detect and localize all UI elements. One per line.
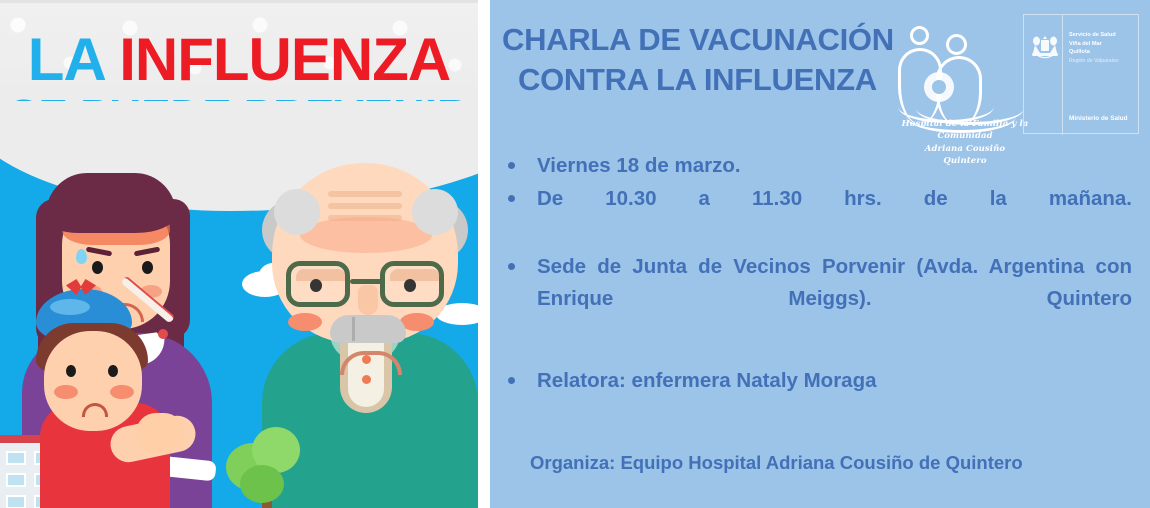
woman-eye bbox=[92, 261, 103, 274]
building-window bbox=[6, 473, 26, 487]
chile-coat-of-arms-icon bbox=[1030, 33, 1060, 59]
boy-cheek bbox=[110, 385, 134, 399]
hospital-logo-line1: Hospital de la Familia y la Comunidad bbox=[890, 118, 1040, 143]
boy-eye bbox=[66, 365, 76, 377]
woman-eye bbox=[142, 261, 153, 274]
building-window bbox=[6, 495, 26, 508]
eyeglass-lens-left bbox=[286, 261, 350, 307]
poster-title-la: LA bbox=[28, 26, 119, 93]
old-man-fever-flush bbox=[300, 217, 432, 253]
old-man-moustache-part bbox=[352, 317, 355, 341]
bullet-dot-icon bbox=[508, 263, 515, 270]
old-man-wrinkle bbox=[328, 191, 402, 197]
woman-hair-front bbox=[46, 173, 176, 233]
list-item-label: Relatora: enfermera Nataly Moraga bbox=[537, 365, 1132, 396]
old-man-cheek bbox=[288, 313, 322, 331]
page-title-line1: CHARLA DE VACUNACIÓN bbox=[502, 22, 894, 57]
old-man-button bbox=[362, 375, 371, 384]
building-window bbox=[6, 451, 26, 465]
ministry-footer-label: Ministerio de Salud bbox=[1069, 115, 1137, 122]
old-man-hair-tuft-right bbox=[412, 189, 458, 235]
influenza-poster-image: LA INFLUENZA SE PUEDE PREVENIR bbox=[0, 0, 478, 508]
eyeglass-bridge bbox=[350, 279, 382, 284]
bullet-dot-icon bbox=[508, 195, 515, 202]
eyeglasses-icon bbox=[286, 261, 444, 307]
boy-cheek bbox=[54, 385, 78, 399]
event-details-list: Viernes 18 de marzo. De 10.30 a 11.30 hr… bbox=[502, 150, 1132, 398]
logo-flower-center bbox=[932, 80, 946, 94]
logo-figure-head bbox=[910, 26, 929, 45]
organizer-note: Organiza: Equipo Hospital Adriana Cousiñ… bbox=[530, 452, 1130, 474]
page-title-line2: CONTRA LA INFLUENZA bbox=[502, 60, 922, 100]
sweat-drop-icon bbox=[76, 249, 87, 264]
slide-root: LA INFLUENZA SE PUEDE PREVENIR bbox=[0, 0, 1150, 508]
list-item-label: De 10.30 a 11.30 hrs. de la mañana. bbox=[537, 183, 1132, 245]
list-item: Relatora: enfermera Nataly Moraga bbox=[502, 365, 1132, 396]
bullet-dot-icon bbox=[508, 162, 515, 169]
boy-hand bbox=[136, 413, 184, 453]
ministry-region: Región de Valparaíso bbox=[1069, 57, 1137, 65]
eyeglass-lens-right bbox=[380, 261, 444, 307]
ministry-of-health-logo: Servicio de Salud Viña del Mar Quillota … bbox=[1023, 14, 1139, 134]
ministry-service-name: Servicio de Salud Viña del Mar Quillota … bbox=[1069, 31, 1137, 65]
ministry-service-line3: Quillota bbox=[1069, 48, 1137, 57]
list-item: De 10.30 a 11.30 hrs. de la mañana. bbox=[502, 183, 1132, 245]
ice-pack-highlight bbox=[50, 299, 90, 315]
poster-title-influenza: INFLUENZA bbox=[119, 26, 450, 93]
list-item-label: Sede de Junta de Vecinos Porvenir (Avda.… bbox=[537, 251, 1132, 344]
tree-foliage bbox=[240, 465, 284, 503]
old-man-wrinkle bbox=[328, 203, 402, 209]
thermometer-bulb bbox=[158, 329, 168, 339]
logo-divider bbox=[1062, 15, 1063, 135]
list-item: Viernes 18 de marzo. bbox=[502, 150, 1132, 181]
info-panel: CHARLA DE VACUNACIÓN CONTRA LA INFLUENZA… bbox=[490, 0, 1150, 508]
old-man-moustache bbox=[330, 315, 406, 343]
poster-title-line1: LA INFLUENZA bbox=[0, 31, 478, 90]
page-title: CHARLA DE VACUNACIÓN CONTRA LA INFLUENZA bbox=[502, 20, 922, 101]
ministry-service-line2: Viña del Mar bbox=[1069, 40, 1137, 49]
old-man-hair-tuft-left bbox=[274, 189, 320, 235]
boy-eye bbox=[108, 365, 118, 377]
hospital-logo: Hospital de la Familia y la Comunidad Ad… bbox=[894, 6, 1034, 136]
ministry-service-line1: Servicio de Salud bbox=[1069, 31, 1137, 40]
list-item: Sede de Junta de Vecinos Porvenir (Avda.… bbox=[502, 251, 1132, 344]
list-item-label: Viernes 18 de marzo. bbox=[537, 150, 1132, 181]
logo-figure-head bbox=[946, 34, 967, 55]
bullet-dot-icon bbox=[508, 377, 515, 384]
